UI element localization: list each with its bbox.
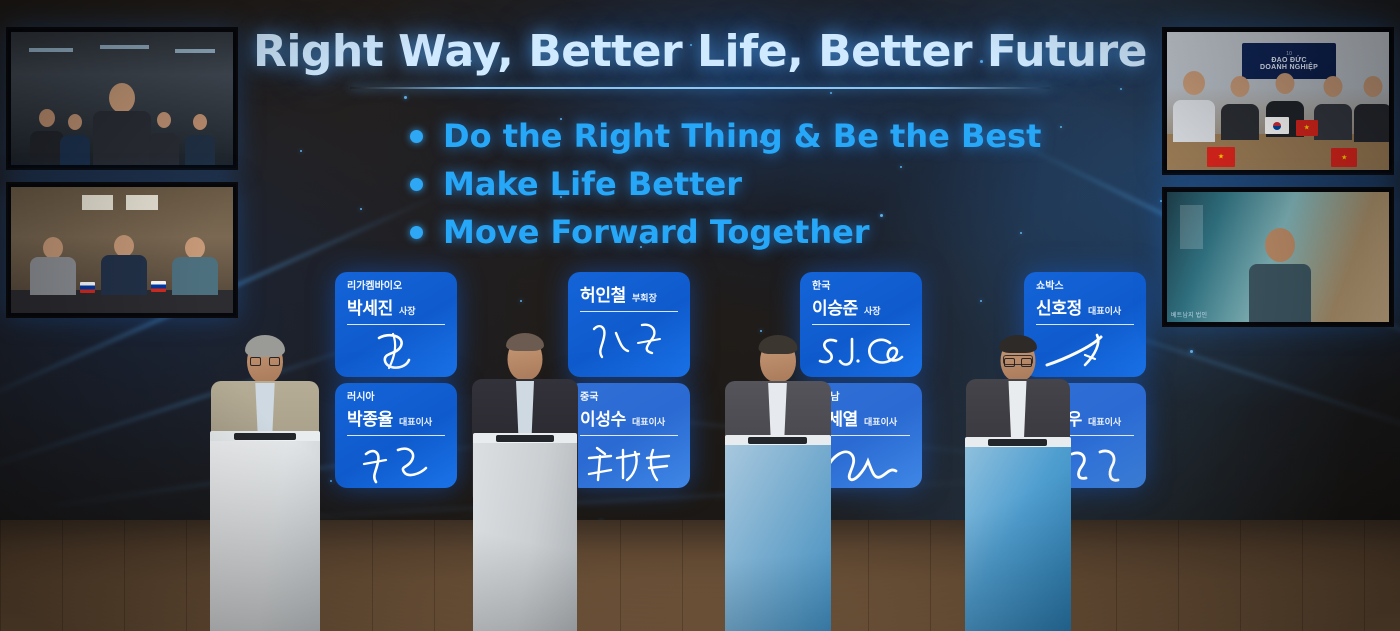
list-item [1314, 76, 1354, 139]
list-item: Do the Right Thing & Be the Best [410, 112, 1110, 160]
list-item [29, 237, 78, 295]
speaker [1251, 228, 1309, 322]
video-panel-top-left[interactable] [6, 27, 238, 170]
name-plaque: 러시아 박종율 대표이사 [335, 383, 457, 488]
podium-front [965, 447, 1071, 631]
glasses-icon [250, 355, 280, 366]
bullet-dot-icon [410, 226, 423, 239]
floor-plank-line [682, 520, 683, 631]
video-panel-top-right[interactable]: 10 ĐẠO ĐỨC DOANH NGHIỆP [1162, 27, 1394, 175]
shelf [1180, 205, 1202, 249]
podium-front [210, 441, 320, 631]
ceiling-light [175, 49, 215, 53]
list-item [171, 237, 220, 295]
list-item [1171, 71, 1215, 143]
bullet-label: Move Forward Together [443, 213, 870, 251]
star-particle [830, 92, 832, 94]
head [1265, 228, 1295, 262]
russia-flag-icon [80, 282, 95, 293]
head [1183, 71, 1205, 95]
tablet-device[interactable] [496, 435, 554, 442]
banner-line-3: DOANH NGHIỆP [1260, 64, 1318, 71]
plaque-rank: 대표이사 [399, 415, 432, 428]
russia-flag-icon [151, 281, 166, 292]
head [1275, 73, 1294, 94]
wall-sign [82, 195, 113, 210]
floor-plank-line [0, 520, 1, 631]
list-item [149, 112, 180, 165]
bullet-label: Make Life Better [443, 165, 742, 203]
floor-plank-line [62, 520, 63, 631]
plaque-divider [347, 324, 445, 325]
video-feed [11, 32, 233, 165]
torso [1173, 100, 1215, 142]
executive-2 [450, 300, 600, 631]
hair [245, 335, 285, 357]
vietnam-flag-icon [1331, 148, 1357, 167]
torso [93, 111, 151, 165]
executive-1 [185, 300, 345, 631]
executive-4 [940, 300, 1095, 631]
signature-mark [347, 438, 445, 488]
korea-flag-icon [1265, 117, 1289, 134]
bullet-dot-icon [410, 130, 423, 143]
torso [1249, 264, 1311, 322]
head [193, 114, 207, 130]
head [114, 235, 134, 257]
floor-plank-line [1116, 520, 1117, 631]
video-feed: 10 ĐẠO ĐỨC DOANH NGHIỆP [1167, 32, 1389, 170]
podium-front [725, 445, 831, 631]
list-item: Make Life Better [410, 160, 1110, 208]
floor-plank-line [1364, 520, 1365, 631]
list-item [184, 114, 215, 165]
plaque-person: 박종율 [347, 405, 393, 430]
floor-plank-line [930, 520, 931, 631]
plaque-rank: 사장 [864, 304, 881, 317]
wall-sign [126, 195, 157, 210]
podium [965, 437, 1071, 631]
bullet-label: Do the Right Thing & Be the Best [443, 117, 1041, 155]
list-item [60, 114, 91, 165]
bullet-dot-icon [410, 178, 423, 191]
star-particle [1190, 350, 1193, 353]
plaque-rank: 대표이사 [632, 415, 665, 428]
head [1324, 76, 1343, 97]
plaque-company: 쇼박스 [1036, 280, 1134, 293]
head [39, 109, 55, 127]
head [1231, 76, 1250, 97]
star-particle [360, 208, 362, 210]
torso [30, 131, 64, 165]
torso [60, 135, 90, 165]
tablet-device[interactable] [234, 433, 296, 440]
torso [185, 135, 215, 165]
vietnam-flag-icon [1296, 120, 1318, 136]
floor-plank-line [124, 520, 125, 631]
hair [999, 335, 1037, 353]
torso [1314, 104, 1352, 140]
ceiling-light [29, 48, 73, 52]
banner-line-2: ĐẠO ĐỨC [1271, 57, 1307, 64]
list-item [1220, 76, 1260, 139]
plaque-company: 러시아 [347, 391, 445, 404]
torso [1354, 104, 1389, 142]
title-underline [350, 87, 1050, 89]
podium-front [473, 443, 577, 631]
torso [1221, 104, 1259, 140]
plaque-divider [347, 435, 445, 436]
torso [172, 257, 218, 295]
plaque-rank: 사장 [399, 304, 416, 317]
floor-plank-line [1302, 520, 1303, 631]
plaque-company: 리가켐바이오 [347, 280, 445, 293]
floor-plank-line [372, 520, 373, 631]
hair [758, 335, 797, 354]
tablet-device[interactable] [748, 437, 807, 444]
floor-plank-line [1178, 520, 1179, 631]
list-item: Move Forward Together [410, 208, 1110, 256]
head [157, 112, 171, 128]
head [109, 83, 135, 113]
torso [101, 255, 147, 295]
banner-line-1: 10 [1286, 51, 1292, 57]
head [185, 237, 205, 259]
conference-stage-photo: Right Way, Better Life, Better Future Do… [0, 0, 1400, 631]
podium [473, 433, 577, 631]
list-item [95, 83, 148, 165]
signature-mark [347, 327, 445, 377]
floor-plank-line [1240, 520, 1241, 631]
podium [210, 431, 320, 631]
plaque-rank: 대표이사 [864, 415, 897, 428]
head [1364, 76, 1383, 97]
executive-3 [700, 300, 855, 631]
plaque-rank: 부회장 [632, 291, 657, 304]
vietnam-flag-icon [1207, 147, 1235, 167]
floor-plank-line [868, 520, 869, 631]
glasses-icon [1003, 355, 1033, 365]
head [68, 114, 82, 130]
hair [506, 333, 544, 351]
slide-bullet-list: Do the Right Thing & Be the Best Make Li… [410, 112, 1110, 256]
list-item [1353, 76, 1389, 142]
plaque-person: 박세진 [347, 294, 393, 319]
head [43, 237, 63, 259]
video-panel-bottom-left[interactable] [6, 182, 238, 318]
video-feed: 베트남지 법인 [1167, 192, 1389, 322]
tablet-device[interactable] [988, 439, 1047, 446]
floor-plank-line [434, 520, 435, 631]
plaque-company: 한국 [812, 280, 910, 293]
star-particle [300, 150, 302, 152]
video-feed [11, 187, 233, 313]
video-label: 베트남지 법인 [1171, 310, 1207, 319]
video-panel-bottom-right[interactable]: 베트남지 법인 [1162, 187, 1394, 327]
name-plaque: 리가켐바이오 박세진 사장 [335, 272, 457, 377]
star-particle [404, 96, 407, 99]
floor-plank-line [620, 520, 621, 631]
torso [149, 133, 179, 165]
list-item [100, 235, 149, 295]
podium [725, 435, 831, 631]
torso [30, 257, 76, 295]
ceiling-light [100, 45, 149, 49]
